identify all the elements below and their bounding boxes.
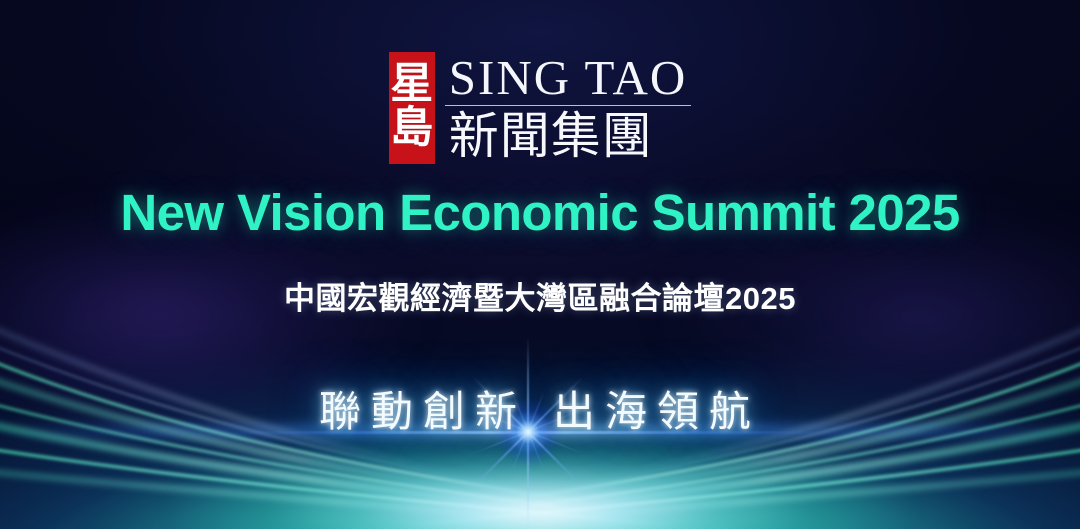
logo-mark-red-block: 星 島	[389, 52, 435, 164]
logo-english-name: SING TAO	[445, 53, 692, 106]
logo-chinese-name: 新聞集團	[445, 106, 692, 163]
event-title-english: New Vision Economic Summit 2025	[120, 186, 959, 239]
tagline-part-2: 出海領航	[553, 388, 761, 435]
tagline-part-1: 聯動創新	[319, 388, 527, 435]
banner-content: 星 島 SING TAO 新聞集團 New Vision Economic Su…	[0, 0, 1080, 529]
sing-tao-logo: 星 島 SING TAO 新聞集團	[389, 52, 692, 164]
logo-mark-char-1: 星	[390, 64, 433, 106]
event-tagline: 聯動創新出海領航	[319, 388, 761, 435]
event-key-visual-banner: 星 島 SING TAO 新聞集團 New Vision Economic Su…	[0, 0, 1080, 529]
event-title-chinese: 中國宏觀經濟暨大灣區融合論壇2025	[284, 282, 796, 316]
logo-mark-char-2: 島	[390, 108, 433, 150]
logo-wordmark: SING TAO 新聞集團	[445, 52, 692, 164]
